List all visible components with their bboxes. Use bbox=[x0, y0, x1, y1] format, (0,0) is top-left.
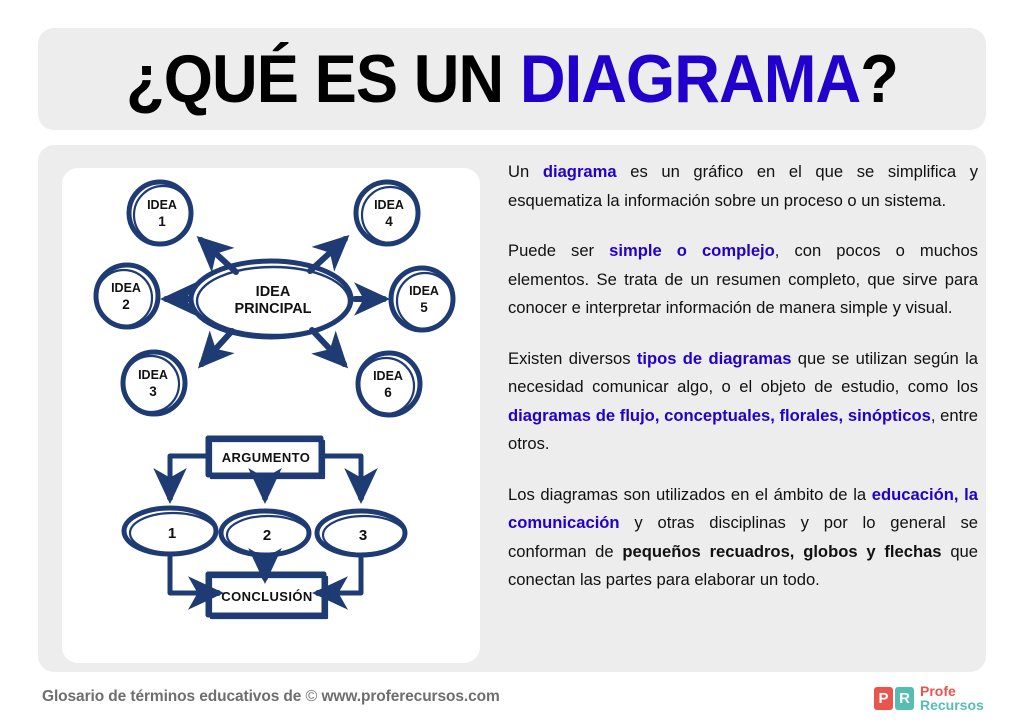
logo-tile-r: R bbox=[895, 687, 914, 710]
paragraph-2: Puede ser simple o complejo, con pocos o… bbox=[508, 237, 978, 323]
mindmap-node-5-label: IDEA bbox=[409, 284, 439, 298]
brand-logo[interactable]: P R Profe Recursos bbox=[874, 684, 984, 713]
p1-part1: Un bbox=[508, 162, 543, 181]
mindmap-center-line2: PRINCIPAL bbox=[234, 301, 311, 317]
mindmap-node-3-number: 3 bbox=[149, 384, 157, 399]
paragraph-1: Un diagrama es un gráfico en el que se s… bbox=[508, 158, 978, 215]
diagram-illustration-card: IDEA PRINCIPAL IDEA 1 IDEA 2 IDEA 3 IDEA… bbox=[62, 168, 480, 663]
mindmap-center-line1: IDEA bbox=[256, 284, 291, 300]
mindmap-node-5-number: 5 bbox=[420, 300, 428, 315]
flowchart-top-box-label: ARGUMENTO bbox=[222, 450, 311, 465]
copyright-icon: © bbox=[306, 688, 318, 706]
title-banner: ¿QUÉ ES UN DIAGRAMA? bbox=[38, 28, 986, 130]
flowchart-step-2-label: 2 bbox=[263, 527, 271, 544]
mindmap-node-3-label: IDEA bbox=[138, 368, 168, 382]
mindmap-node-4-number: 4 bbox=[385, 214, 393, 229]
p3-highlight-2: diagramas de flujo, conceptuales, floral… bbox=[508, 406, 931, 425]
p2-part1: Puede ser bbox=[508, 241, 609, 260]
p4-bold-1: pequeños recuadros, globos y flechas bbox=[622, 542, 941, 561]
footer-credit-prefix: Glosario de términos educativos de bbox=[42, 688, 301, 705]
flowchart-step-1-label: 1 bbox=[168, 525, 176, 542]
mindmap-node-2-number: 2 bbox=[122, 297, 130, 312]
logo-tile-p: P bbox=[874, 687, 893, 710]
p4-part1: Los diagramas son utilizados en el ámbit… bbox=[508, 485, 872, 504]
p3-highlight-1: tipos de diagramas bbox=[637, 349, 792, 368]
title-prefix: ¿QUÉ ES UN bbox=[126, 41, 520, 117]
logo-tiles: P R bbox=[874, 687, 914, 710]
footer-credit: Glosario de términos educativos de © www… bbox=[42, 688, 500, 706]
logo-wordmark: Profe Recursos bbox=[920, 684, 984, 713]
page-title: ¿QUÉ ES UN DIAGRAMA? bbox=[126, 45, 898, 113]
footer-website[interactable]: www.proferecursos.com bbox=[321, 688, 499, 705]
mindmap-node-6-number: 6 bbox=[384, 385, 392, 400]
mindmap-node-4-label: IDEA bbox=[374, 198, 404, 212]
diagram-illustration: IDEA PRINCIPAL IDEA 1 IDEA 2 IDEA 3 IDEA… bbox=[62, 168, 480, 663]
p2-highlight-1: simple o complejo bbox=[609, 241, 775, 260]
logo-word-profe: Profe bbox=[920, 684, 984, 698]
flowchart-bottom-box-label: CONCLUSIÓN bbox=[221, 589, 312, 604]
description-text: Un diagrama es un gráfico en el que se s… bbox=[508, 158, 978, 595]
mindmap-node-2-label: IDEA bbox=[111, 281, 141, 295]
mindmap-node-1-label: IDEA bbox=[147, 198, 177, 212]
title-highlight: DIAGRAMA bbox=[520, 41, 860, 117]
paragraph-3: Existen diversos tipos de diagramas que … bbox=[508, 345, 978, 459]
p3-part1: Existen diversos bbox=[508, 349, 637, 368]
paragraph-4: Los diagramas son utilizados en el ámbit… bbox=[508, 481, 978, 595]
mindmap-node-6-label: IDEA bbox=[373, 369, 403, 383]
p1-highlight-1: diagrama bbox=[543, 162, 617, 181]
title-suffix: ? bbox=[860, 41, 898, 117]
logo-word-recursos: Recursos bbox=[920, 698, 984, 712]
mindmap-node-1-number: 1 bbox=[158, 214, 166, 229]
flowchart-step-3-label: 3 bbox=[359, 527, 367, 544]
